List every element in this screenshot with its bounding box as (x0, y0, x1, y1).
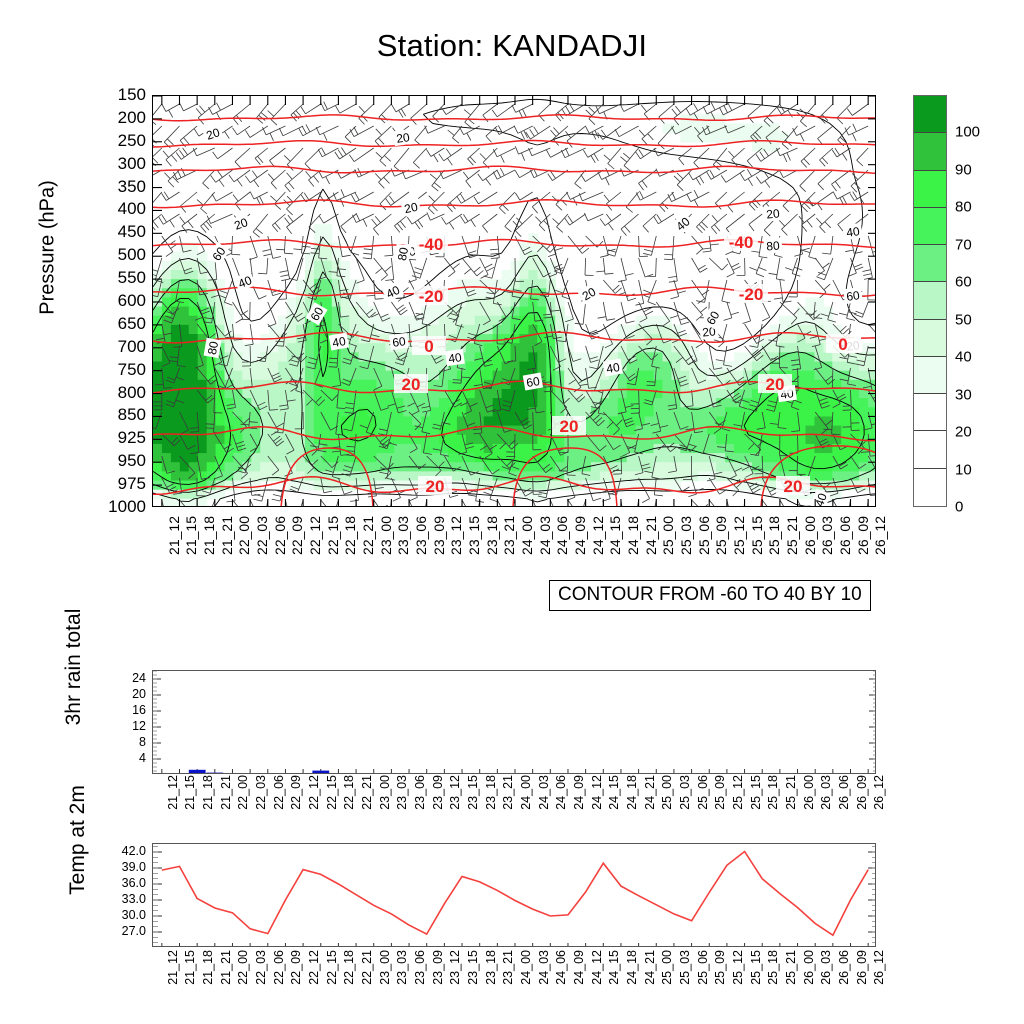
x-axis-tick-label: 21_15 (183, 775, 197, 810)
x-axis-tick-label: 22_03 (254, 950, 268, 985)
temp-y-tick-label: 39.0 (122, 860, 146, 874)
x-axis-tick-label: 25_12 (731, 950, 745, 985)
x-axis-tick-label: 24_00 (519, 516, 535, 555)
pressure-cross-section-plot[interactable]: 2020202020202020204040404040404040404040… (152, 95, 876, 507)
x-axis-tick-label: 22_12 (307, 775, 321, 810)
x-axis-tick-label: 22_06 (272, 950, 286, 985)
x-axis-tick-label: 22_03 (254, 516, 270, 555)
x-axis-tick-label: 22_21 (360, 950, 374, 985)
x-axis-tick-label: 25_12 (731, 775, 745, 810)
x-axis-tick-label: 22_00 (236, 516, 252, 555)
rain-y-tick-label: 20 (132, 687, 146, 701)
x-axis-tick-label: 23_06 (413, 950, 427, 985)
x-axis-tick-label: 25_03 (678, 950, 692, 985)
temp-y-tick-label: 33.0 (122, 892, 146, 906)
x-axis-tick-label: 21_18 (201, 775, 215, 810)
x-axis-tick-label: 25_03 (678, 516, 694, 555)
colorbar-tick-label: 70 (955, 236, 972, 253)
svg-text:20: 20 (426, 477, 445, 496)
x-axis-tick-label: 21_18 (201, 516, 217, 555)
svg-text:20: 20 (784, 477, 803, 496)
x-axis-tick-label: 22_09 (289, 516, 305, 555)
temp-y-tick-label: 36.0 (122, 876, 146, 890)
x-axis-tick-label: 26_06 (837, 950, 851, 985)
svg-text:40: 40 (447, 350, 462, 366)
x-axis-tick-label: 24_06 (554, 775, 568, 810)
x-axis-tick-label: 23_18 (484, 775, 498, 810)
x-axis-tick-label: 25_18 (766, 516, 782, 555)
x-axis-tick-label: 25_06 (696, 775, 710, 810)
x-axis-tick-label: 23_09 (431, 516, 447, 555)
svg-text:20: 20 (560, 417, 579, 436)
x-axis-tick-label: 23_03 (395, 516, 411, 555)
colorbar-swatch (914, 431, 946, 468)
x-axis-tick-label: 21_12 (166, 775, 180, 810)
x-axis-tick-label: 22_18 (342, 516, 358, 555)
x-axis-tick-label: 22_03 (254, 775, 268, 810)
x-axis-tick-label: 25_06 (696, 516, 712, 555)
svg-text:20: 20 (395, 130, 410, 146)
x-axis-tick-label: 23_15 (466, 516, 482, 555)
temp-y-tick-label: 42.0 (122, 844, 146, 858)
x-axis-tick-label: 26_00 (802, 775, 816, 810)
svg-text:60: 60 (525, 374, 541, 390)
colorbar-swatch (914, 96, 946, 133)
temp-chart-y-axis-labels: 42.039.036.033.030.027.0 (98, 843, 146, 947)
temp-chart-x-axis-labels: 21_1221_1521_1821_2122_0022_0322_0622_09… (152, 950, 876, 1010)
rain-bars-svg (153, 671, 876, 774)
x-axis-tick-label: 25_21 (784, 775, 798, 810)
x-axis-tick-label: 21_21 (219, 775, 233, 810)
colorbar-swatch (914, 357, 946, 394)
x-axis-tick-label: 23_09 (431, 775, 445, 810)
x-axis-tick-label: 22_15 (325, 516, 341, 555)
y-axis-tick-label: 800 (118, 383, 146, 403)
x-axis-tick-label: 25_00 (660, 775, 674, 810)
svg-text:-20: -20 (739, 285, 764, 304)
svg-text:80: 80 (205, 340, 221, 356)
colorbar-tick-label: 100 (955, 124, 980, 141)
y-axis-tick-label: 550 (118, 268, 146, 288)
humidity-colorbar[interactable] (913, 95, 947, 507)
colorbar-swatch (914, 469, 946, 506)
x-axis-tick-label: 22_18 (342, 775, 356, 810)
x-axis-tick-label: 22_06 (272, 775, 286, 810)
colorbar-tick-label: 0 (955, 499, 963, 516)
x-axis-tick-label: 26_03 (819, 775, 833, 810)
svg-text:40: 40 (331, 334, 347, 350)
x-axis-tick-label: 25_12 (731, 516, 747, 555)
x-axis-tick-label: 24_00 (519, 775, 533, 810)
x-axis-tick-label: 24_12 (590, 775, 604, 810)
colorbar-tick-label: 10 (955, 461, 972, 478)
colorbar-tick-label: 50 (955, 311, 972, 328)
x-axis-tick-label: 26_06 (837, 775, 851, 810)
y-axis-tick-label: 975 (118, 474, 146, 494)
temp-y-tick-label: 27.0 (122, 924, 146, 938)
colorbar-tick-label: 80 (955, 199, 972, 216)
temp-line-svg (153, 844, 876, 947)
colorbar-swatch (914, 245, 946, 282)
page-title: Station: KANDADJI (0, 28, 1024, 64)
x-axis-tick-label: 24_15 (607, 775, 621, 810)
x-axis-tick-label: 25_18 (766, 950, 780, 985)
colorbar-swatch (914, 394, 946, 431)
x-axis-tick-label: 21_15 (183, 950, 197, 985)
x-axis-tick-label: 22_09 (289, 950, 303, 985)
y-axis-tick-label: 1000 (108, 497, 146, 517)
y-axis-tick-label: 650 (118, 314, 146, 334)
x-axis-tick-label: 24_09 (572, 950, 586, 985)
x-axis-tick-label: 23_15 (466, 775, 480, 810)
y-axis-tick-label: 700 (118, 337, 146, 357)
x-axis-tick-label: 23_03 (395, 950, 409, 985)
svg-text:-40: -40 (729, 233, 754, 252)
x-axis-tick-label: 23_21 (501, 516, 517, 555)
colorbar-tick-label: 30 (955, 386, 972, 403)
colorbar-swatch (914, 133, 946, 170)
colorbar-tick-label: 60 (955, 274, 972, 291)
x-axis-tick-label: 21_15 (183, 516, 199, 555)
y-axis-tick-label: 950 (118, 451, 146, 471)
temperature-2m-plot[interactable] (152, 843, 876, 947)
x-axis-tick-label: 25_18 (766, 775, 780, 810)
x-axis-tick-label: 23_12 (448, 516, 464, 555)
x-axis-tick-label: 25_06 (696, 950, 710, 985)
rain-y-tick-label: 12 (132, 719, 146, 733)
x-axis-tick-label: 25_15 (749, 775, 763, 810)
x-axis-tick-label: 23_12 (448, 775, 462, 810)
x-axis-tick-label: 26_12 (872, 950, 886, 985)
x-axis-tick-label: 25_09 (713, 950, 727, 985)
rain-bar (312, 771, 329, 774)
rain-y-tick-label: 8 (139, 735, 146, 749)
x-axis-tick-label: 24_18 (625, 516, 641, 555)
x-axis-tick-label: 21_12 (166, 516, 182, 555)
x-axis-tick-label: 22_06 (272, 516, 288, 555)
y-axis-tick-label: 350 (118, 177, 146, 197)
svg-text:20: 20 (766, 206, 781, 221)
x-axis-tick-label: 23_03 (395, 775, 409, 810)
x-axis-tick-label: 21_12 (166, 950, 180, 985)
x-axis-tick-label: 26_09 (855, 775, 869, 810)
rain-chart-y-axis-title: 3hr rain total (62, 567, 86, 767)
x-axis-tick-label: 24_15 (607, 950, 621, 985)
x-axis-tick-label: 26_00 (802, 516, 818, 555)
x-axis-tick-label: 21_21 (219, 950, 233, 985)
x-axis-tick-label: 22_00 (236, 775, 250, 810)
x-axis-tick-label: 25_15 (749, 950, 763, 985)
x-axis-tick-label: 23_06 (413, 775, 427, 810)
main-chart-y-axis-title: Pressure (hPa) (37, 108, 60, 388)
y-axis-tick-label: 200 (118, 108, 146, 128)
temp-series-line (162, 852, 868, 936)
rain-chart-y-axis-labels: 2420161284 (98, 670, 146, 774)
x-axis-tick-label: 24_15 (607, 516, 623, 555)
svg-text:40: 40 (845, 224, 860, 240)
x-axis-tick-label: 24_12 (590, 516, 606, 555)
x-axis-tick-label: 26_06 (837, 516, 853, 555)
x-axis-tick-label: 24_09 (572, 775, 586, 810)
humidity-colorbar-labels: 1009080706050403020100 (955, 95, 1015, 507)
x-axis-tick-label: 24_18 (625, 950, 639, 985)
x-axis-tick-label: 25_21 (784, 516, 800, 555)
colorbar-tick-label: 40 (955, 349, 972, 366)
y-axis-tick-label: 600 (118, 291, 146, 311)
x-axis-tick-label: 25_09 (713, 516, 729, 555)
colorbar-tick-label: 90 (955, 161, 972, 178)
rain-chart-x-axis-labels: 21_1221_1521_1821_2122_0022_0322_0622_09… (152, 775, 876, 831)
x-axis-tick-label: 22_12 (307, 516, 323, 555)
x-axis-tick-label: 21_21 (219, 516, 235, 555)
x-axis-tick-label: 23_18 (484, 950, 498, 985)
rain-bar (189, 770, 206, 774)
colorbar-swatch (914, 320, 946, 357)
y-axis-tick-label: 925 (118, 428, 146, 448)
y-axis-tick-label: 300 (118, 154, 146, 174)
x-axis-tick-label: 26_12 (872, 775, 886, 810)
svg-text:0: 0 (838, 335, 847, 354)
x-axis-tick-label: 24_03 (537, 775, 551, 810)
colorbar-tick-label: 20 (955, 424, 972, 441)
svg-text:60: 60 (845, 288, 860, 304)
x-axis-tick-label: 22_15 (325, 775, 339, 810)
rain-y-tick-label: 4 (139, 751, 146, 765)
svg-text:80: 80 (395, 246, 411, 262)
svg-text:-20: -20 (419, 287, 444, 306)
x-axis-tick-label: 24_21 (643, 775, 657, 810)
y-axis-tick-label: 150 (118, 85, 146, 105)
svg-text:60: 60 (391, 334, 406, 350)
x-axis-tick-label: 24_06 (554, 950, 568, 985)
x-axis-tick-label: 22_21 (360, 516, 376, 555)
x-axis-tick-label: 24_00 (519, 950, 533, 985)
y-axis-tick-label: 450 (118, 222, 146, 242)
main-chart-x-axis-labels: 21_1221_1521_1821_2122_0022_0322_0622_09… (152, 516, 876, 576)
svg-text:40: 40 (605, 360, 621, 376)
svg-text:20: 20 (766, 375, 785, 394)
temp-y-tick-label: 30.0 (122, 908, 146, 922)
x-axis-tick-label: 24_12 (590, 950, 604, 985)
x-axis-tick-label: 25_09 (713, 775, 727, 810)
x-axis-tick-label: 25_21 (784, 950, 798, 985)
svg-text:80: 80 (766, 239, 781, 254)
colorbar-swatch (914, 208, 946, 245)
x-axis-tick-label: 26_09 (855, 950, 869, 985)
rain-total-plot[interactable] (152, 670, 876, 774)
x-axis-tick-label: 23_06 (413, 516, 429, 555)
x-axis-tick-label: 23_12 (448, 950, 462, 985)
x-axis-tick-label: 23_00 (378, 950, 392, 985)
colorbar-swatch (914, 171, 946, 208)
x-axis-tick-label: 22_18 (342, 950, 356, 985)
x-axis-tick-label: 23_21 (501, 775, 515, 810)
x-axis-tick-label: 21_18 (201, 950, 215, 985)
x-axis-tick-label: 22_12 (307, 950, 321, 985)
svg-text:20: 20 (402, 375, 421, 394)
x-axis-tick-label: 26_03 (819, 516, 835, 555)
y-axis-tick-label: 750 (118, 360, 146, 380)
temp-chart-y-axis-title: Temp at 2m (66, 740, 90, 940)
x-axis-tick-label: 24_03 (537, 516, 553, 555)
x-axis-tick-label: 23_15 (466, 950, 480, 985)
main-chart-y-axis-labels: 1502002503003504004505005506006507007508… (58, 95, 146, 507)
y-axis-tick-label: 250 (118, 131, 146, 151)
x-axis-tick-label: 23_21 (501, 950, 515, 985)
x-axis-tick-label: 25_00 (660, 950, 674, 985)
x-axis-tick-label: 25_15 (749, 516, 765, 555)
y-axis-tick-label: 500 (118, 245, 146, 265)
x-axis-tick-label: 24_21 (643, 950, 657, 985)
svg-text:-40: -40 (419, 235, 444, 254)
x-axis-tick-label: 26_00 (802, 950, 816, 985)
x-axis-tick-label: 22_15 (325, 950, 339, 985)
x-axis-tick-label: 23_00 (378, 516, 394, 555)
y-axis-tick-label: 850 (118, 405, 146, 425)
x-axis-tick-label: 23_00 (378, 775, 392, 810)
x-axis-tick-label: 24_06 (554, 516, 570, 555)
x-axis-tick-label: 26_12 (872, 516, 888, 555)
x-axis-tick-label: 24_09 (572, 516, 588, 555)
contour-interval-note: CONTOUR FROM -60 TO 40 BY 10 (549, 580, 871, 611)
rain-y-tick-label: 16 (132, 703, 146, 717)
svg-text:0: 0 (424, 337, 433, 356)
x-axis-tick-label: 26_09 (855, 516, 871, 555)
x-axis-tick-label: 22_21 (360, 775, 374, 810)
x-axis-tick-label: 25_03 (678, 775, 692, 810)
x-axis-tick-label: 24_03 (537, 950, 551, 985)
x-axis-tick-label: 22_09 (289, 775, 303, 810)
colorbar-swatch (914, 282, 946, 319)
x-axis-tick-label: 24_18 (625, 775, 639, 810)
x-axis-tick-label: 24_21 (643, 516, 659, 555)
x-axis-tick-label: 23_09 (431, 950, 445, 985)
cross-section-svg: 2020202020202020204040404040404040404040… (153, 96, 876, 507)
x-axis-tick-label: 26_03 (819, 950, 833, 985)
x-axis-tick-label: 22_00 (236, 950, 250, 985)
y-axis-tick-label: 400 (118, 199, 146, 219)
x-axis-tick-label: 23_18 (484, 516, 500, 555)
x-axis-tick-label: 25_00 (660, 516, 676, 555)
rain-y-tick-label: 24 (132, 671, 146, 685)
